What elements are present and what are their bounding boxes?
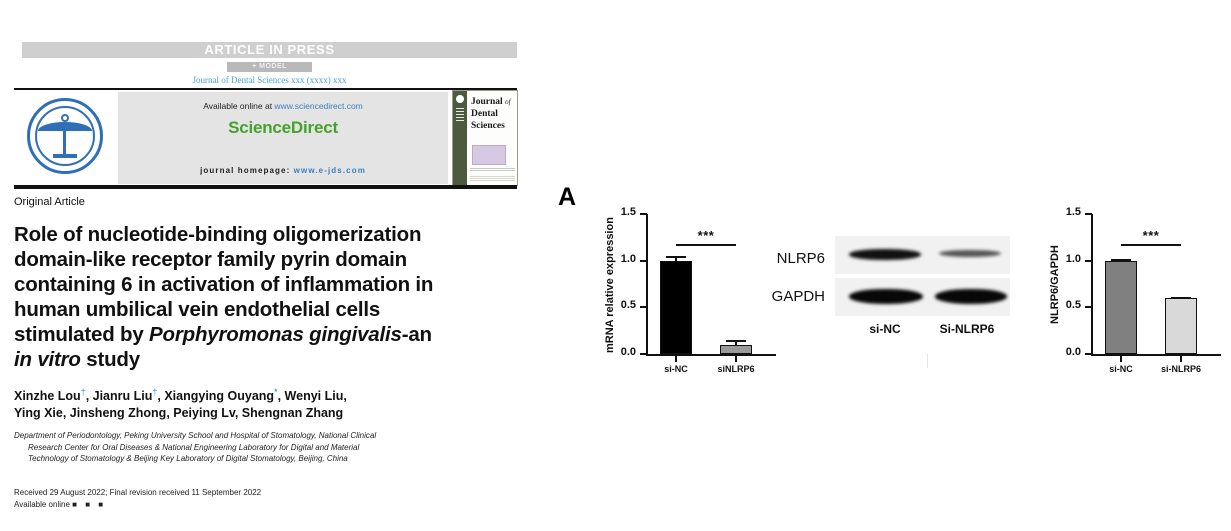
journal-homepage-label: journal homepage: [200,166,290,175]
chart0-sig-stars-0: *** [698,228,715,243]
chart1-y-axis-title: NLRP6/GAPDH [1049,214,1061,356]
author-list: Xinzhe Lou†, Jianru Liu†, Xiangying Ouya… [14,384,464,422]
citation-line: Journal of Dental Sciences xxx (xxxx) xx… [22,75,517,85]
available-online-line: Available online at www.sciencedirect.co… [118,101,448,111]
title-italic-invitro: in vitro [14,348,81,371]
blot-lane-label-si-nc: si-NC [869,322,900,336]
affiliation: Department of Periodontology, Peking Uni… [14,430,474,465]
available-online-placeholders: ■ ■ ■ [72,500,106,509]
chart0-xlabel-1: siNLRP6 [717,364,754,374]
chart0-xlabel-0: si-NC [664,364,688,374]
chart0-errorcap-0 [666,256,687,258]
available-online-label: Available online [14,500,70,509]
chart0-xtick-1 [735,356,737,362]
chart0-sig-line-0 [676,244,736,247]
cover-title-line3: Sciences [471,121,505,131]
chart0-ytick-label-2: 1.0 [621,253,636,265]
chart1-ytick-label-2: 1.0 [1066,253,1081,265]
figure-panel-a: A mRNA relative expression 0.00.51.01.5 … [540,0,1231,531]
blot-band-gapdh-si-nlrp6 [935,289,1007,304]
chart1-xtick-0 [1120,356,1122,362]
chart1-sig-stars-0: *** [1143,228,1160,243]
chart0-xtick-0 [675,356,677,362]
received-line: Received 29 August 2022; Final revision … [14,488,261,497]
title-text-part2: -an [402,323,432,346]
panel-label-a: A [558,183,576,212]
blot-divider [927,354,928,368]
cover-spine-emblem-icon [456,95,464,103]
caduceus-head-icon [61,114,69,122]
chart1-x-axis [1091,354,1221,356]
model-badge: + MODEL [227,62,312,72]
chart-nlrp6-gapdh-ratio: NLRP6/GAPDH 0.00.51.01.5 si-NCsi-NLRP6 *… [1045,196,1231,391]
author-1: Xinzhe Lou [14,389,81,403]
affiliation-line-2: Research Center for Oral Diseases & Nati… [14,442,474,454]
cover-title: Journal of Dental Sciences [471,96,517,132]
chart1-xlabel-0: si-NC [1109,364,1133,374]
chart1-ytick-label-3: 1.5 [1066,206,1081,218]
author-2: , Jianru Liu [86,389,153,403]
chart0-ytick-label-1: 0.5 [621,299,636,311]
authors-line-2: Ying Xie, Jinsheng Zhong, Peiying Lv, Sh… [14,406,343,420]
header-rule-top [14,88,517,90]
cover-caption-lines [470,168,515,171]
affiliation-line-1: Department of Periodontology, Peking Uni… [14,430,474,442]
model-badge-label: + MODEL [227,62,312,72]
society-logo [16,92,112,184]
chart1-xtick-1 [1180,356,1182,362]
received-dates: Received 29 August 2022; Final revision … [14,487,474,510]
blot-band-nlrp6-si-nc [849,249,921,260]
chart1-sig-line-0 [1121,244,1181,247]
affiliation-line-3: Technology of Stomatology & Beijing Key … [14,453,474,465]
journal-homepage-line: journal homepage: www.e-jds.com [118,166,448,175]
available-online-prefix: Available online at [203,101,274,111]
chart1-bar-0 [1105,261,1136,354]
page-title: Role of nucleotide-binding oligomerizati… [14,222,454,372]
journal-article-first-page: ARTICLE IN PRESS + MODEL Journal of Dent… [0,0,540,531]
author-4: , Wenyi Liu, [278,389,347,403]
article-type-kicker: Original Article [14,196,85,208]
author-3: , Xiangying Ouyang [157,389,274,403]
logo-base [53,154,77,158]
cover-title-of: of [505,98,510,106]
chart0-ytick-label-0: 0.0 [621,346,636,358]
cover-title-line2: Dental [471,109,498,119]
cover-footer-lines [470,176,515,181]
cover-image-block [472,145,506,165]
blot-band-gapdh-si-nc [849,289,923,304]
cover-spine [453,91,467,185]
sciencedirect-link[interactable]: www.sciencedirect.com [274,101,362,111]
blot-row-label-nlrp6: NLRP6 [745,250,825,267]
western-blot: NLRP6 GAPDH si-NC Si-NLRP6 [745,222,1035,362]
chart1-errorcap-1 [1171,297,1192,299]
title-text-part3: study [81,348,140,371]
chart1-bar-1 [1165,298,1196,354]
chart0-ytick-label-3: 1.5 [621,206,636,218]
chart0-y-axis-title: mRNA relative expression [604,214,616,356]
blot-band-nlrp6-si-nlrp6 [939,250,1001,257]
chart0-errorcap-1 [726,340,747,342]
chart1-errorcap-0 [1111,259,1132,261]
article-in-press-banner: ARTICLE IN PRESS [22,42,517,58]
chart1-ytick-label-1: 0.5 [1066,299,1081,311]
chart1-ytick-label-0: 0.0 [1066,346,1081,358]
article-in-press-label: ARTICLE IN PRESS [22,42,517,58]
title-italic-species: Porphyromonas gingivalis [149,323,402,346]
blot-strip-nlrp6 [835,236,1010,274]
blot-row-label-gapdh: GAPDH [745,288,825,305]
chart1-xlabel-1: si-NLRP6 [1161,364,1201,374]
header-rule-bottom [14,185,517,189]
sciencedirect-block: Available online at www.sciencedirect.co… [118,92,448,184]
chart0-bar-0 [660,261,691,354]
journal-cover-thumbnail: Journal of Dental Sciences [452,90,518,186]
cover-spine-lines [456,108,464,122]
blot-strip-gapdh [835,278,1010,316]
blot-lane-label-si-nlrp6: Si-NLRP6 [940,322,995,336]
sciencedirect-logo: ScienceDirect [118,118,448,138]
cover-title-line1: Journal [471,97,503,107]
journal-homepage-link[interactable]: www.e-jds.com [294,166,366,175]
